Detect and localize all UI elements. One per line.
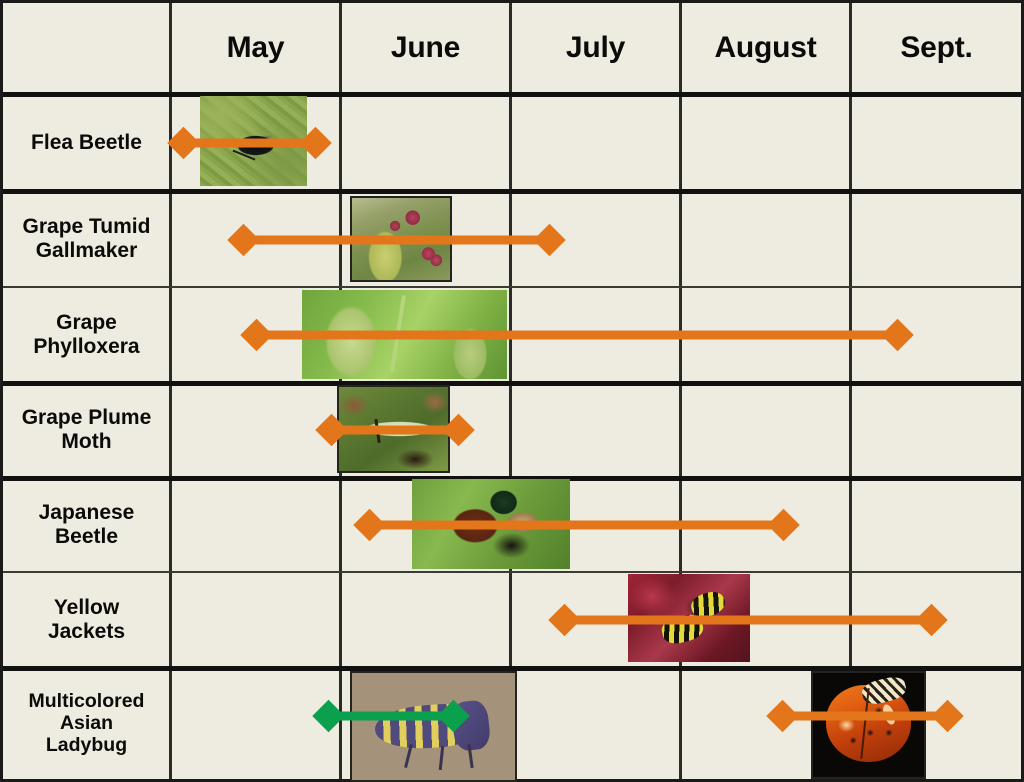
row-label-grape-plume-moth: Grape Plume Moth: [3, 384, 170, 476]
row-label-line: Moth: [22, 430, 152, 454]
row-label-line: Grape: [33, 311, 139, 335]
row-label-line: Japanese: [39, 501, 135, 525]
row-label-line: Yellow: [48, 596, 125, 620]
column-header-sept: Sept.: [852, 0, 1021, 95]
row-label-grape-tumid-gallmaker: Grape Tumid Gallmaker: [3, 192, 170, 286]
row-label-line: Gallmaker: [23, 239, 151, 263]
row-label-line: Flea Beetle: [31, 131, 142, 155]
row-label-line: Multicolored: [29, 691, 145, 713]
row-label-line: Beetle: [39, 525, 135, 549]
row-label-line: Asian: [29, 713, 145, 735]
row-label-grape-phylloxera: Grape Phylloxera: [3, 289, 170, 381]
column-header-july: July: [512, 0, 679, 95]
corner-cell: [3, 3, 170, 92]
row-label-multicolored-asian-ladybug: Multicolored Asian Ladybug: [3, 669, 170, 779]
row-label-line: Grape Plume: [22, 406, 152, 430]
row-label-line: Jackets: [48, 620, 125, 644]
row-label-line: Grape Tumid: [23, 215, 151, 239]
row-label-line: Ladybug: [29, 735, 145, 757]
chart-labels: May June July August Sept. Flea Beetle G…: [0, 0, 1024, 782]
row-label-line: Phylloxera: [33, 335, 139, 359]
column-header-june: June: [342, 0, 509, 95]
row-label-japanese-beetle: Japanese Beetle: [3, 479, 170, 571]
column-header-august: August: [682, 0, 849, 95]
column-header-may: May: [172, 0, 339, 95]
row-label-flea-beetle: Flea Beetle: [3, 97, 170, 189]
pest-activity-timeline-chart: May June July August Sept. Flea Beetle G…: [0, 0, 1024, 782]
row-label-yellow-jackets: Yellow Jackets: [3, 574, 170, 666]
